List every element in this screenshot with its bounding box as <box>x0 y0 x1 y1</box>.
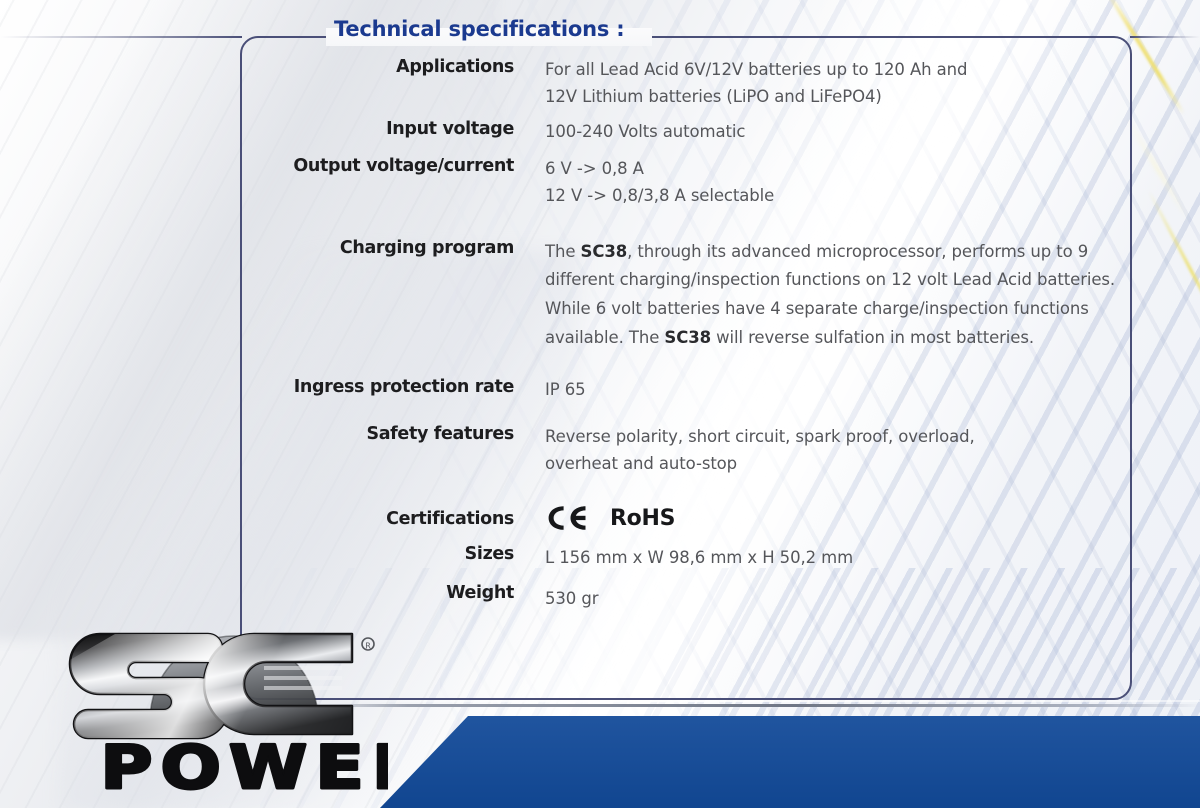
spec-label-ingress-protection-rate: Ingress protection rate <box>240 376 545 400</box>
spec-line: 12V Lithium batteries (LiPO and LiFePO4) <box>545 84 1140 111</box>
table-row: Certifications RoHS <box>240 500 1140 537</box>
title-rule-right <box>1130 36 1200 38</box>
spec-label-output-voltage-current: Output voltage/current <box>240 155 545 179</box>
title-rule-left <box>0 36 242 38</box>
spec-label-certifications: Certifications <box>240 500 545 532</box>
certification-marks: RoHS <box>545 501 1140 537</box>
page-title: Technical specifications : <box>334 17 624 41</box>
rohs-label: RoHS <box>610 501 675 537</box>
spec-value-input-voltage: 100-240 Volts automatic <box>545 118 1140 146</box>
footer-blue-banner-shading <box>380 716 1200 808</box>
spec-value-output-voltage-current: 6 V -> 0,8 A 12 V -> 0,8/3,8 A selectabl… <box>545 155 1140 209</box>
table-row: Output voltage/current 6 V -> 0,8 A 12 V… <box>240 155 1140 209</box>
sc-power-logo: R POWER <box>58 588 388 800</box>
spec-line: 6 V -> 0,8 A <box>545 156 1140 183</box>
spec-line: overheat and auto-stop <box>545 451 1140 478</box>
spec-label-input-voltage: Input voltage <box>240 118 545 142</box>
spec-line: L 156 mm x W 98,6 mm x H 50,2 mm <box>545 545 1140 572</box>
table-row: Safety features Reverse polarity, short … <box>240 423 1140 477</box>
spec-label-charging-program: Charging program <box>240 237 545 261</box>
ce-mark-icon <box>545 503 591 533</box>
svg-text:POWER: POWER <box>100 733 388 800</box>
spec-value-applications: For all Lead Acid 6V/12V batteries up to… <box>545 56 1140 110</box>
table-row: Applications For all Lead Acid 6V/12V ba… <box>240 56 1140 110</box>
svg-text:R: R <box>365 642 371 651</box>
table-row: Input voltage 100-240 Volts automatic <box>240 118 1140 146</box>
footer-rule <box>300 704 1200 707</box>
table-row: Sizes L 156 mm x W 98,6 mm x H 50,2 mm <box>240 543 1140 572</box>
spec-value-sizes: L 156 mm x W 98,6 mm x H 50,2 mm <box>545 543 1140 572</box>
registered-trademark-icon: R <box>362 638 374 651</box>
spec-line: IP 65 <box>545 377 1140 404</box>
spec-line: 12 V -> 0,8/3,8 A selectable <box>545 183 1140 210</box>
spec-value-charging-program: The SC38, through its advanced microproc… <box>545 237 1140 353</box>
spec-line: Reverse polarity, short circuit, spark p… <box>545 424 1140 451</box>
spec-value-weight: 530 gr <box>545 582 1140 613</box>
footer-rule-highlight <box>330 700 1200 702</box>
spec-label-safety-features: Safety features <box>240 423 545 447</box>
table-row: Charging program The SC38, through its a… <box>240 237 1140 353</box>
charging-paragraph: The SC38, through its advanced microproc… <box>545 238 1140 353</box>
spec-value-ingress-protection-rate: IP 65 <box>545 376 1140 404</box>
spec-value-safety-features: Reverse polarity, short circuit, spark p… <box>545 423 1140 477</box>
spec-label-sizes: Sizes <box>240 543 545 567</box>
table-row: Ingress protection rate IP 65 <box>240 376 1140 404</box>
spec-label-applications: Applications <box>240 56 545 80</box>
specifications-table: Applications For all Lead Acid 6V/12V ba… <box>240 56 1140 619</box>
spec-line: 100-240 Volts automatic <box>545 119 1140 146</box>
spec-line: 530 gr <box>545 586 1140 613</box>
spec-line: For all Lead Acid 6V/12V batteries up to… <box>545 57 1140 84</box>
logo-wordmark: POWER <box>100 733 388 800</box>
spec-value-certifications: RoHS <box>545 500 1140 537</box>
